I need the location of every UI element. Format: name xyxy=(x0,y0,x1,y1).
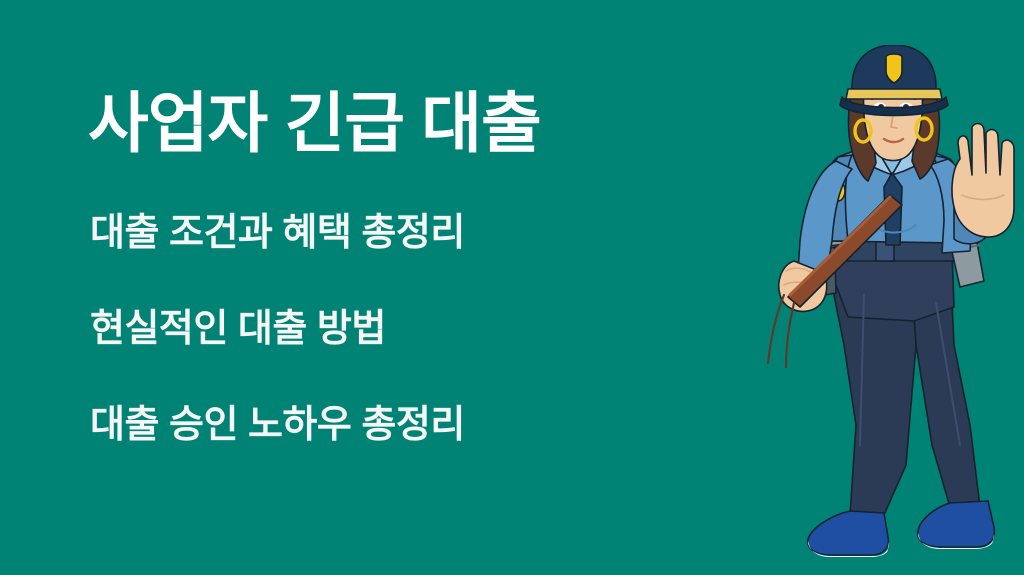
police-officer-illustration xyxy=(764,45,1024,575)
text-content-block: 사업자 긴급 대출 대출 조건과 혜택 총정리 현실적인 대출 방법 대출 승인… xyxy=(0,0,760,575)
page-title: 사업자 긴급 대출 xyxy=(88,86,541,162)
stop-hand xyxy=(952,124,1014,237)
right-arm-stop-gesture xyxy=(930,124,1014,253)
list-item: 현실적인 대출 방법 xyxy=(90,310,730,348)
list-item: 대출 승인 노하우 총정리 xyxy=(90,406,730,444)
shoes-shape xyxy=(808,501,995,557)
bullet-list: 대출 조건과 혜택 총정리 현실적인 대출 방법 대출 승인 노하우 총정리 xyxy=(90,214,730,444)
cap-band xyxy=(846,89,942,99)
trousers-shape xyxy=(824,253,980,515)
slide-canvas: 사업자 긴급 대출 대출 조건과 혜택 총정리 현실적인 대출 방법 대출 승인… xyxy=(0,0,1024,575)
list-item: 대출 조건과 혜택 총정리 xyxy=(90,214,730,252)
cap-badge xyxy=(886,54,902,83)
police-officer-svg xyxy=(764,45,1024,575)
